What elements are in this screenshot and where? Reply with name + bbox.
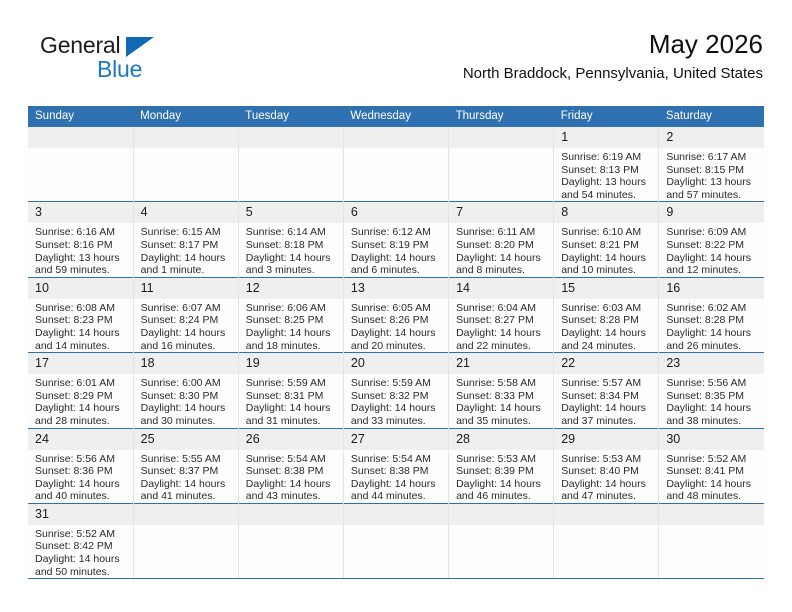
daylight-duration-line-1: Daylight: 14 hours [246, 402, 339, 415]
daylight-duration-line-2: and 1 minute. [141, 264, 234, 277]
calendar-day-cell[interactable]: 17Sunrise: 6:01 AMSunset: 8:29 PMDayligh… [28, 353, 133, 428]
day-sun-info: Sunrise: 5:57 AMSunset: 8:34 PMDaylight:… [554, 374, 658, 427]
calendar-day-cell[interactable]: 10Sunrise: 6:08 AMSunset: 8:23 PMDayligh… [28, 277, 133, 352]
daylight-duration-line-1: Daylight: 14 hours [351, 327, 444, 340]
day-sun-info: Sunrise: 6:09 AMSunset: 8:22 PMDaylight:… [659, 223, 764, 276]
page-title: May 2026 [463, 28, 763, 60]
calendar-day-cell[interactable]: 23Sunrise: 5:56 AMSunset: 8:35 PMDayligh… [659, 353, 764, 428]
day-sun-info: Sunrise: 6:14 AMSunset: 8:18 PMDaylight:… [239, 223, 343, 276]
calendar-day-cell[interactable]: 28Sunrise: 5:53 AMSunset: 8:39 PMDayligh… [449, 428, 554, 503]
sunrise-time: Sunrise: 6:17 AM [666, 151, 760, 164]
sunrise-time: Sunrise: 5:59 AM [351, 377, 444, 390]
daylight-duration-line-2: and 47 minutes. [561, 490, 654, 503]
day-number [134, 504, 238, 525]
day-sun-info: Sunrise: 5:52 AMSunset: 8:41 PMDaylight:… [659, 450, 764, 503]
sunset-time: Sunset: 8:34 PM [561, 390, 654, 403]
daylight-duration-line-1: Daylight: 14 hours [666, 478, 760, 491]
sunrise-sunset-calendar: Sunday Monday Tuesday Wednesday Thursday… [28, 106, 764, 579]
day-sun-info: Sunrise: 6:15 AMSunset: 8:17 PMDaylight:… [134, 223, 238, 276]
title-block: May 2026 North Braddock, Pennsylvania, U… [463, 28, 763, 84]
day-number: 28 [449, 429, 553, 450]
daylight-duration-line-2: and 40 minutes. [35, 490, 129, 503]
day-number: 13 [344, 278, 448, 299]
day-sun-info: Sunrise: 5:55 AMSunset: 8:37 PMDaylight:… [134, 450, 238, 503]
sunrise-time: Sunrise: 5:54 AM [351, 453, 444, 466]
daylight-duration-line-2: and 50 minutes. [35, 566, 129, 579]
day-number [659, 504, 764, 525]
sunset-time: Sunset: 8:39 PM [456, 465, 549, 478]
daylight-duration-line-2: and 44 minutes. [351, 490, 444, 503]
sunrise-time: Sunrise: 5:58 AM [456, 377, 549, 390]
sunset-time: Sunset: 8:33 PM [456, 390, 549, 403]
day-number [134, 127, 238, 148]
day-number: 4 [134, 202, 238, 223]
calendar-day-cell[interactable]: 22Sunrise: 5:57 AMSunset: 8:34 PMDayligh… [554, 353, 659, 428]
daylight-duration-line-1: Daylight: 14 hours [246, 327, 339, 340]
calendar-day-cell[interactable]: 18Sunrise: 6:00 AMSunset: 8:30 PMDayligh… [133, 353, 238, 428]
day-number: 24 [28, 429, 133, 450]
sunrise-time: Sunrise: 6:16 AM [35, 226, 129, 239]
day-number: 12 [239, 278, 343, 299]
day-number: 21 [449, 353, 553, 374]
day-number [554, 504, 658, 525]
daylight-duration-line-1: Daylight: 14 hours [561, 478, 654, 491]
day-sun-info: Sunrise: 6:11 AMSunset: 8:20 PMDaylight:… [449, 223, 553, 276]
calendar-day-cell-empty [659, 503, 764, 578]
calendar-day-cell-empty [449, 503, 554, 578]
daylight-duration-line-2: and 18 minutes. [246, 340, 339, 353]
sunrise-time: Sunrise: 6:06 AM [246, 302, 339, 315]
sunrise-time: Sunrise: 6:01 AM [35, 377, 129, 390]
day-number: 20 [344, 353, 448, 374]
daylight-duration-line-2: and 10 minutes. [561, 264, 654, 277]
daylight-duration-line-2: and 6 minutes. [351, 264, 444, 277]
day-number: 19 [239, 353, 343, 374]
triangle-flag-icon [126, 37, 154, 57]
day-sun-info: Sunrise: 6:02 AMSunset: 8:28 PMDaylight:… [659, 299, 764, 352]
day-number: 16 [659, 278, 764, 299]
sunrise-time: Sunrise: 6:05 AM [351, 302, 444, 315]
weekday-header-monday: Monday [133, 106, 238, 127]
sunset-time: Sunset: 8:28 PM [561, 314, 654, 327]
sunset-time: Sunset: 8:13 PM [561, 164, 654, 177]
sunrise-time: Sunrise: 6:02 AM [666, 302, 760, 315]
day-sun-info: Sunrise: 5:53 AMSunset: 8:40 PMDaylight:… [554, 450, 658, 503]
daylight-duration-line-1: Daylight: 14 hours [666, 402, 760, 415]
daylight-duration-line-2: and 26 minutes. [666, 340, 760, 353]
day-sun-info: Sunrise: 6:04 AMSunset: 8:27 PMDaylight:… [449, 299, 553, 352]
weekday-header-tuesday: Tuesday [238, 106, 343, 127]
day-number: 11 [134, 278, 238, 299]
sunset-time: Sunset: 8:20 PM [456, 239, 549, 252]
daylight-duration-line-1: Daylight: 14 hours [141, 478, 234, 491]
day-sun-info: Sunrise: 6:16 AMSunset: 8:16 PMDaylight:… [28, 223, 133, 276]
calendar-day-cell[interactable]: 27Sunrise: 5:54 AMSunset: 8:38 PMDayligh… [343, 428, 448, 503]
daylight-duration-line-1: Daylight: 14 hours [35, 402, 129, 415]
sunrise-time: Sunrise: 5:56 AM [666, 377, 760, 390]
general-blue-logo[interactable]: General Blue [40, 32, 250, 90]
day-number: 27 [344, 429, 448, 450]
calendar-day-cell[interactable]: 15Sunrise: 6:03 AMSunset: 8:28 PMDayligh… [554, 277, 659, 352]
weekday-header-friday: Friday [554, 106, 659, 127]
sunset-time: Sunset: 8:32 PM [351, 390, 444, 403]
sunrise-time: Sunrise: 6:03 AM [561, 302, 654, 315]
calendar-header-row: Sunday Monday Tuesday Wednesday Thursday… [28, 106, 764, 127]
calendar-day-cell[interactable]: 31Sunrise: 5:52 AMSunset: 8:42 PMDayligh… [28, 503, 133, 578]
sunset-time: Sunset: 8:31 PM [246, 390, 339, 403]
calendar-day-cell[interactable]: 12Sunrise: 6:06 AMSunset: 8:25 PMDayligh… [238, 277, 343, 352]
sunset-time: Sunset: 8:40 PM [561, 465, 654, 478]
day-number [28, 127, 133, 148]
sunset-time: Sunset: 8:18 PM [246, 239, 339, 252]
daylight-duration-line-1: Daylight: 14 hours [561, 252, 654, 265]
daylight-duration-line-2: and 14 minutes. [35, 340, 129, 353]
day-number: 10 [28, 278, 133, 299]
day-number [449, 127, 553, 148]
calendar-week-row: 3Sunrise: 6:16 AMSunset: 8:16 PMDaylight… [28, 202, 764, 277]
sunrise-time: Sunrise: 6:09 AM [666, 226, 760, 239]
sunrise-time: Sunrise: 6:15 AM [141, 226, 234, 239]
day-sun-info: Sunrise: 5:54 AMSunset: 8:38 PMDaylight:… [344, 450, 448, 503]
day-number: 7 [449, 202, 553, 223]
day-sun-info: Sunrise: 6:19 AMSunset: 8:13 PMDaylight:… [554, 148, 658, 201]
daylight-duration-line-2: and 31 minutes. [246, 415, 339, 428]
daylight-duration-line-1: Daylight: 14 hours [456, 252, 549, 265]
sunrise-time: Sunrise: 6:12 AM [351, 226, 444, 239]
sunrise-time: Sunrise: 5:59 AM [246, 377, 339, 390]
day-number: 9 [659, 202, 764, 223]
page-header: General Blue May 2026 North Braddock, Pe… [28, 28, 763, 96]
daylight-duration-line-1: Daylight: 14 hours [35, 553, 129, 566]
daylight-duration-line-2: and 28 minutes. [35, 415, 129, 428]
sunset-time: Sunset: 8:25 PM [246, 314, 339, 327]
sunrise-time: Sunrise: 5:56 AM [35, 453, 129, 466]
daylight-duration-line-1: Daylight: 14 hours [141, 327, 234, 340]
daylight-duration-line-2: and 37 minutes. [561, 415, 654, 428]
day-sun-info: Sunrise: 6:12 AMSunset: 8:19 PMDaylight:… [344, 223, 448, 276]
day-sun-info: Sunrise: 6:00 AMSunset: 8:30 PMDaylight:… [134, 374, 238, 427]
day-number: 2 [659, 127, 764, 148]
calendar-day-cell[interactable]: 14Sunrise: 6:04 AMSunset: 8:27 PMDayligh… [449, 277, 554, 352]
day-sun-info: Sunrise: 5:52 AMSunset: 8:42 PMDaylight:… [28, 525, 133, 578]
daylight-duration-line-1: Daylight: 14 hours [561, 402, 654, 415]
sunset-time: Sunset: 8:23 PM [35, 314, 129, 327]
day-sun-info: Sunrise: 5:59 AMSunset: 8:32 PMDaylight:… [344, 374, 448, 427]
day-number [344, 127, 448, 148]
day-number [344, 504, 448, 525]
calendar-week-row: 17Sunrise: 6:01 AMSunset: 8:29 PMDayligh… [28, 353, 764, 428]
day-number: 23 [659, 353, 764, 374]
calendar-day-cell[interactable]: 26Sunrise: 5:54 AMSunset: 8:38 PMDayligh… [238, 428, 343, 503]
calendar-day-cell[interactable]: 4Sunrise: 6:15 AMSunset: 8:17 PMDaylight… [133, 202, 238, 277]
calendar-week-row: 24Sunrise: 5:56 AMSunset: 8:36 PMDayligh… [28, 428, 764, 503]
day-sun-info: Sunrise: 6:01 AMSunset: 8:29 PMDaylight:… [28, 374, 133, 427]
daylight-duration-line-1: Daylight: 14 hours [141, 402, 234, 415]
day-number [239, 127, 343, 148]
daylight-duration-line-2: and 16 minutes. [141, 340, 234, 353]
daylight-duration-line-1: Daylight: 14 hours [456, 478, 549, 491]
sunrise-time: Sunrise: 6:19 AM [561, 151, 654, 164]
sunrise-time: Sunrise: 5:55 AM [141, 453, 234, 466]
daylight-duration-line-2: and 43 minutes. [246, 490, 339, 503]
sunset-time: Sunset: 8:38 PM [351, 465, 444, 478]
calendar-day-cell-empty [238, 503, 343, 578]
calendar-day-cell[interactable]: 3Sunrise: 6:16 AMSunset: 8:16 PMDaylight… [28, 202, 133, 277]
day-number: 31 [28, 504, 133, 525]
calendar-day-cell[interactable]: 13Sunrise: 6:05 AMSunset: 8:26 PMDayligh… [343, 277, 448, 352]
page-subtitle: North Braddock, Pennsylvania, United Sta… [463, 64, 763, 84]
sunrise-time: Sunrise: 6:04 AM [456, 302, 549, 315]
sunset-time: Sunset: 8:27 PM [456, 314, 549, 327]
sunset-time: Sunset: 8:22 PM [666, 239, 760, 252]
calendar-day-cell[interactable]: 24Sunrise: 5:56 AMSunset: 8:36 PMDayligh… [28, 428, 133, 503]
sunrise-time: Sunrise: 5:54 AM [246, 453, 339, 466]
daylight-duration-line-1: Daylight: 14 hours [456, 402, 549, 415]
daylight-duration-line-2: and 30 minutes. [141, 415, 234, 428]
calendar-day-cell-empty [238, 127, 343, 202]
sunset-time: Sunset: 8:42 PM [35, 540, 129, 553]
calendar-day-cell[interactable]: 5Sunrise: 6:14 AMSunset: 8:18 PMDaylight… [238, 202, 343, 277]
day-number [239, 504, 343, 525]
calendar-day-cell-empty [343, 503, 448, 578]
day-number: 8 [554, 202, 658, 223]
sunset-time: Sunset: 8:21 PM [561, 239, 654, 252]
sunset-time: Sunset: 8:29 PM [35, 390, 129, 403]
daylight-duration-line-1: Daylight: 14 hours [351, 478, 444, 491]
daylight-duration-line-1: Daylight: 14 hours [141, 252, 234, 265]
day-sun-info: Sunrise: 6:05 AMSunset: 8:26 PMDaylight:… [344, 299, 448, 352]
day-sun-info: Sunrise: 6:17 AMSunset: 8:15 PMDaylight:… [659, 148, 764, 201]
sunset-time: Sunset: 8:26 PM [351, 314, 444, 327]
calendar-day-cell[interactable]: 1Sunrise: 6:19 AMSunset: 8:13 PMDaylight… [554, 127, 659, 202]
sunset-time: Sunset: 8:24 PM [141, 314, 234, 327]
daylight-duration-line-2: and 35 minutes. [456, 415, 549, 428]
sunrise-time: Sunrise: 6:11 AM [456, 226, 549, 239]
day-sun-info: Sunrise: 6:03 AMSunset: 8:28 PMDaylight:… [554, 299, 658, 352]
calendar-day-cell[interactable]: 2Sunrise: 6:17 AMSunset: 8:15 PMDaylight… [659, 127, 764, 202]
weekday-header-sunday: Sunday [28, 106, 133, 127]
day-sun-info: Sunrise: 5:56 AMSunset: 8:36 PMDaylight:… [28, 450, 133, 503]
daylight-duration-line-1: Daylight: 14 hours [35, 478, 129, 491]
sunset-time: Sunset: 8:30 PM [141, 390, 234, 403]
daylight-duration-line-2: and 57 minutes. [666, 189, 760, 202]
calendar-day-cell[interactable]: 30Sunrise: 5:52 AMSunset: 8:41 PMDayligh… [659, 428, 764, 503]
daylight-duration-line-2: and 54 minutes. [561, 189, 654, 202]
sunrise-time: Sunrise: 6:00 AM [141, 377, 234, 390]
day-number: 18 [134, 353, 238, 374]
day-number: 1 [554, 127, 658, 148]
calendar-day-cell-empty [554, 503, 659, 578]
calendar-week-row: 10Sunrise: 6:08 AMSunset: 8:23 PMDayligh… [28, 277, 764, 352]
daylight-duration-line-2: and 33 minutes. [351, 415, 444, 428]
day-sun-info: Sunrise: 5:56 AMSunset: 8:35 PMDaylight:… [659, 374, 764, 427]
calendar-day-cell[interactable]: 20Sunrise: 5:59 AMSunset: 8:32 PMDayligh… [343, 353, 448, 428]
daylight-duration-line-1: Daylight: 13 hours [561, 176, 654, 189]
sunrise-time: Sunrise: 5:52 AM [35, 528, 129, 541]
sunset-time: Sunset: 8:35 PM [666, 390, 760, 403]
daylight-duration-line-2: and 48 minutes. [666, 490, 760, 503]
sunrise-time: Sunrise: 6:14 AM [246, 226, 339, 239]
daylight-duration-line-1: Daylight: 14 hours [35, 327, 129, 340]
calendar-day-cell[interactable]: 7Sunrise: 6:11 AMSunset: 8:20 PMDaylight… [449, 202, 554, 277]
day-number: 14 [449, 278, 553, 299]
daylight-duration-line-2: and 59 minutes. [35, 264, 129, 277]
weekday-header-saturday: Saturday [659, 106, 764, 127]
sunset-time: Sunset: 8:16 PM [35, 239, 129, 252]
day-sun-info: Sunrise: 6:10 AMSunset: 8:21 PMDaylight:… [554, 223, 658, 276]
day-number: 22 [554, 353, 658, 374]
calendar-day-cell[interactable]: 25Sunrise: 5:55 AMSunset: 8:37 PMDayligh… [133, 428, 238, 503]
calendar-week-row: 31Sunrise: 5:52 AMSunset: 8:42 PMDayligh… [28, 503, 764, 578]
daylight-duration-line-1: Daylight: 14 hours [666, 252, 760, 265]
daylight-duration-line-2: and 46 minutes. [456, 490, 549, 503]
weekday-header-wednesday: Wednesday [343, 106, 448, 127]
calendar-day-cell[interactable]: 6Sunrise: 6:12 AMSunset: 8:19 PMDaylight… [343, 202, 448, 277]
daylight-duration-line-1: Daylight: 14 hours [666, 327, 760, 340]
day-number: 17 [28, 353, 133, 374]
sunset-time: Sunset: 8:15 PM [666, 164, 760, 177]
daylight-duration-line-2: and 38 minutes. [666, 415, 760, 428]
daylight-duration-line-2: and 20 minutes. [351, 340, 444, 353]
calendar-day-cell[interactable]: 19Sunrise: 5:59 AMSunset: 8:31 PMDayligh… [238, 353, 343, 428]
sunset-time: Sunset: 8:37 PM [141, 465, 234, 478]
daylight-duration-line-1: Daylight: 13 hours [666, 176, 760, 189]
sunrise-time: Sunrise: 5:53 AM [456, 453, 549, 466]
sunrise-time: Sunrise: 6:08 AM [35, 302, 129, 315]
calendar-day-cell-empty [133, 127, 238, 202]
brand-name-blue: Blue [97, 56, 142, 82]
sunset-time: Sunset: 8:19 PM [351, 239, 444, 252]
day-sun-info: Sunrise: 5:59 AMSunset: 8:31 PMDaylight:… [239, 374, 343, 427]
sunset-time: Sunset: 8:36 PM [35, 465, 129, 478]
calendar-day-cell[interactable]: 9Sunrise: 6:09 AMSunset: 8:22 PMDaylight… [659, 202, 764, 277]
day-number: 29 [554, 429, 658, 450]
daylight-duration-line-2: and 3 minutes. [246, 264, 339, 277]
day-sun-info: Sunrise: 5:54 AMSunset: 8:38 PMDaylight:… [239, 450, 343, 503]
sunrise-time: Sunrise: 6:10 AM [561, 226, 654, 239]
sunset-time: Sunset: 8:41 PM [666, 465, 760, 478]
day-number: 25 [134, 429, 238, 450]
day-sun-info: Sunrise: 6:06 AMSunset: 8:25 PMDaylight:… [239, 299, 343, 352]
daylight-duration-line-2: and 41 minutes. [141, 490, 234, 503]
day-number: 6 [344, 202, 448, 223]
weekday-header-thursday: Thursday [449, 106, 554, 127]
calendar-day-cell-empty [343, 127, 448, 202]
daylight-duration-line-1: Daylight: 14 hours [351, 402, 444, 415]
day-number [449, 504, 553, 525]
sunrise-time: Sunrise: 5:53 AM [561, 453, 654, 466]
calendar-day-cell[interactable]: 8Sunrise: 6:10 AMSunset: 8:21 PMDaylight… [554, 202, 659, 277]
calendar-day-cell[interactable]: 29Sunrise: 5:53 AMSunset: 8:40 PMDayligh… [554, 428, 659, 503]
day-number: 26 [239, 429, 343, 450]
calendar-week-row: 1Sunrise: 6:19 AMSunset: 8:13 PMDaylight… [28, 127, 764, 202]
calendar-day-cell[interactable]: 21Sunrise: 5:58 AMSunset: 8:33 PMDayligh… [449, 353, 554, 428]
brand-name-general: General [40, 32, 120, 58]
day-sun-info: Sunrise: 5:53 AMSunset: 8:39 PMDaylight:… [449, 450, 553, 503]
sunrise-time: Sunrise: 5:57 AM [561, 377, 654, 390]
calendar-day-cell-empty [133, 503, 238, 578]
calendar-page: General Blue May 2026 North Braddock, Pe… [0, 0, 792, 612]
daylight-duration-line-1: Daylight: 14 hours [246, 478, 339, 491]
daylight-duration-line-2: and 8 minutes. [456, 264, 549, 277]
day-sun-info: Sunrise: 6:08 AMSunset: 8:23 PMDaylight:… [28, 299, 133, 352]
daylight-duration-line-1: Daylight: 14 hours [456, 327, 549, 340]
sunset-time: Sunset: 8:17 PM [141, 239, 234, 252]
day-number: 3 [28, 202, 133, 223]
calendar-day-cell[interactable]: 11Sunrise: 6:07 AMSunset: 8:24 PMDayligh… [133, 277, 238, 352]
calendar-day-cell[interactable]: 16Sunrise: 6:02 AMSunset: 8:28 PMDayligh… [659, 277, 764, 352]
day-number: 5 [239, 202, 343, 223]
sunset-time: Sunset: 8:38 PM [246, 465, 339, 478]
day-sun-info: Sunrise: 5:58 AMSunset: 8:33 PMDaylight:… [449, 374, 553, 427]
sunrise-time: Sunrise: 5:52 AM [666, 453, 760, 466]
daylight-duration-line-1: Daylight: 14 hours [561, 327, 654, 340]
sunrise-time: Sunrise: 6:07 AM [141, 302, 234, 315]
daylight-duration-line-2: and 24 minutes. [561, 340, 654, 353]
calendar-day-cell-empty [449, 127, 554, 202]
calendar-day-cell-empty [28, 127, 133, 202]
daylight-duration-line-1: Daylight: 14 hours [246, 252, 339, 265]
day-number: 15 [554, 278, 658, 299]
calendar-body: 1Sunrise: 6:19 AMSunset: 8:13 PMDaylight… [28, 127, 764, 579]
daylight-duration-line-1: Daylight: 13 hours [35, 252, 129, 265]
daylight-duration-line-2: and 12 minutes. [666, 264, 760, 277]
daylight-duration-line-1: Daylight: 14 hours [351, 252, 444, 265]
day-number: 30 [659, 429, 764, 450]
sunset-time: Sunset: 8:28 PM [666, 314, 760, 327]
daylight-duration-line-2: and 22 minutes. [456, 340, 549, 353]
day-sun-info: Sunrise: 6:07 AMSunset: 8:24 PMDaylight:… [134, 299, 238, 352]
